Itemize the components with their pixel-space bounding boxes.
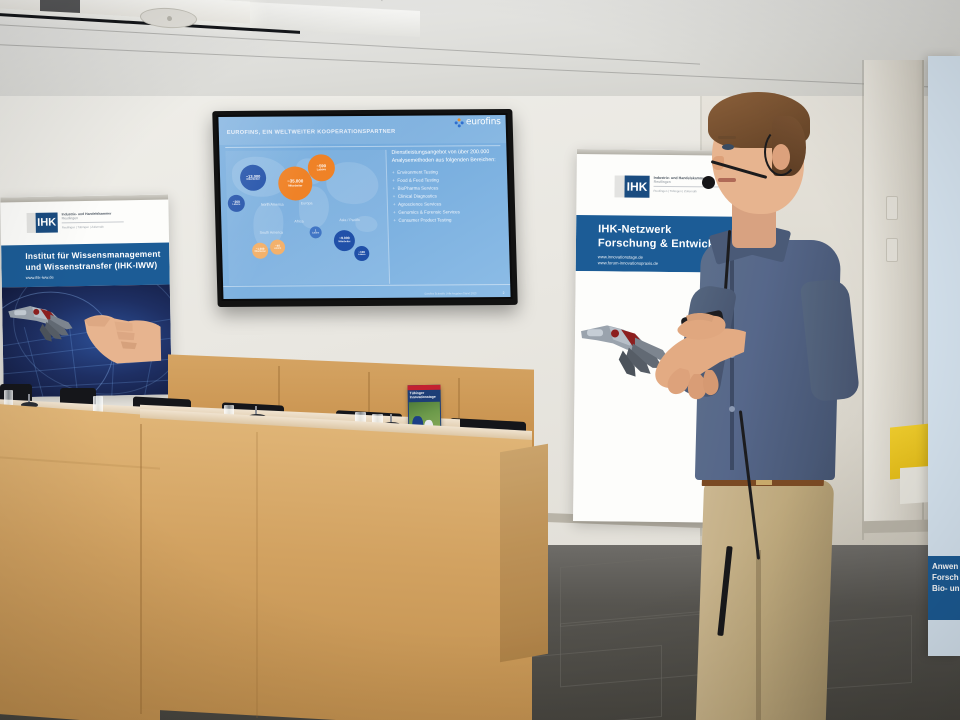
ihk-logo-grey-block	[27, 213, 36, 233]
banner-left-title-line2: und Wissenstransfer (IHK-IWW)	[25, 260, 169, 273]
bubble-north-america-employees: ~13.000 Mitarbeiter	[240, 165, 267, 191]
region-label-africa: Africa	[294, 219, 303, 223]
world-map-panel: North America South America Europa Afric…	[225, 150, 390, 285]
ihk-logo: IHK Industrie- und Handelskammer Reutlin…	[27, 211, 124, 233]
bubble-europe-labs: ~590 Labore	[307, 154, 335, 181]
slide-footnote: Eurofins Scientific | Alle Angaben Stand…	[425, 292, 477, 295]
bubble-south-america-employees: ~1.500 Mitarbeiter	[252, 243, 268, 259]
presentation-clicker[interactable]	[672, 304, 752, 364]
flyer-accent-bar	[407, 385, 440, 391]
slide-lead-text: Dienstleistungsangebot von über 200.000 …	[391, 149, 502, 165]
screenshot-scene: EUROFINS, EIN WELTWEITER KOOPERATIONSPAR…	[0, 0, 960, 720]
presenter	[660, 80, 960, 720]
region-label-europe: Europa	[301, 201, 313, 205]
ihk-logo-grey-block	[614, 175, 624, 197]
slide-text-panel: Dienstleistungsangebot von über 200.000 …	[391, 149, 506, 284]
slide-bullet-list: Environment Testing Food & Feed Testing …	[392, 168, 505, 224]
ihk-logo-line3: Reutlingen | Tübingen | Zollernalb	[62, 224, 124, 229]
bubble-south-america-labs: ~40 Labore	[270, 240, 285, 255]
ihk-logo-abbr: IHK	[624, 176, 649, 198]
ceiling-shadow-gap	[40, 0, 80, 13]
conference-desk-side-panel	[500, 444, 548, 662]
ihk-logo-mark: IHK	[27, 212, 58, 233]
wall-mounted-display[interactable]: EUROFINS, EIN WELTWEITER KOOPERATIONSPAR…	[212, 109, 518, 307]
headset-microphone-icon	[702, 176, 715, 189]
slide-divider	[225, 145, 500, 148]
bubble-asia-labs: ~100 Labore	[354, 246, 369, 261]
conference-desk-front-right	[140, 411, 532, 720]
flyer-title-line2: Innovationstage	[410, 395, 436, 399]
bubble-north-america-labs: ~200 Labore	[228, 195, 245, 212]
presenter-mouth	[718, 178, 736, 182]
banner-left-title-block: Institut für Wissensmanagement und Wisse…	[1, 243, 170, 288]
flyer-title: Tübinger Innovationstage	[410, 391, 439, 400]
ihk-logo-mark: IHK	[614, 175, 649, 197]
region-label-asia-pacific: Asia / Pacific	[339, 218, 360, 222]
region-label-south-america: South America	[260, 231, 283, 235]
eurofins-logo: eurofins	[455, 117, 501, 127]
presenter-eyebrow	[718, 136, 736, 139]
robot-hand-icon	[6, 296, 79, 347]
region-label-north-america: North America	[261, 203, 284, 207]
eurofins-wordmark: eurofins	[466, 117, 501, 127]
desk-front-seam	[256, 432, 258, 718]
presentation-slide: EUROFINS, EIN WELTWEITER KOOPERATIONSPAR…	[218, 115, 510, 299]
banner-left-url: www.ihk-iww.de	[26, 273, 170, 281]
slide-title: EUROFINS, EIN WELTWEITER KOOPERATIONSPAR…	[227, 129, 396, 136]
ihk-logo-line2: Reutlingen	[62, 215, 124, 220]
slide-page-number: 2	[502, 291, 504, 295]
trouser-seam	[756, 550, 761, 720]
bubble-asia-employees: ~9.000 Mitarbeiter	[334, 230, 356, 251]
banner-ihk-iww: IHK Industrie- und Handelskammer Reutlin…	[0, 195, 171, 398]
banner-left-image	[2, 285, 172, 398]
bullet-consumer-product-testing: Consumer Product Testing	[393, 216, 504, 225]
eurofins-mark-icon	[455, 118, 464, 127]
ihk-logo-text: Industrie- und Handelskammer Reutlingen …	[62, 211, 124, 229]
headset-earpiece-icon	[764, 128, 798, 176]
conference-desk-front-left	[0, 404, 160, 720]
bubble-africa-labs: 1 Labore	[309, 226, 321, 238]
human-hand-icon	[80, 299, 163, 366]
presenter-trousers	[696, 480, 834, 720]
ihk-logo-abbr: IHK	[36, 212, 58, 232]
presenter-eye	[722, 144, 734, 150]
